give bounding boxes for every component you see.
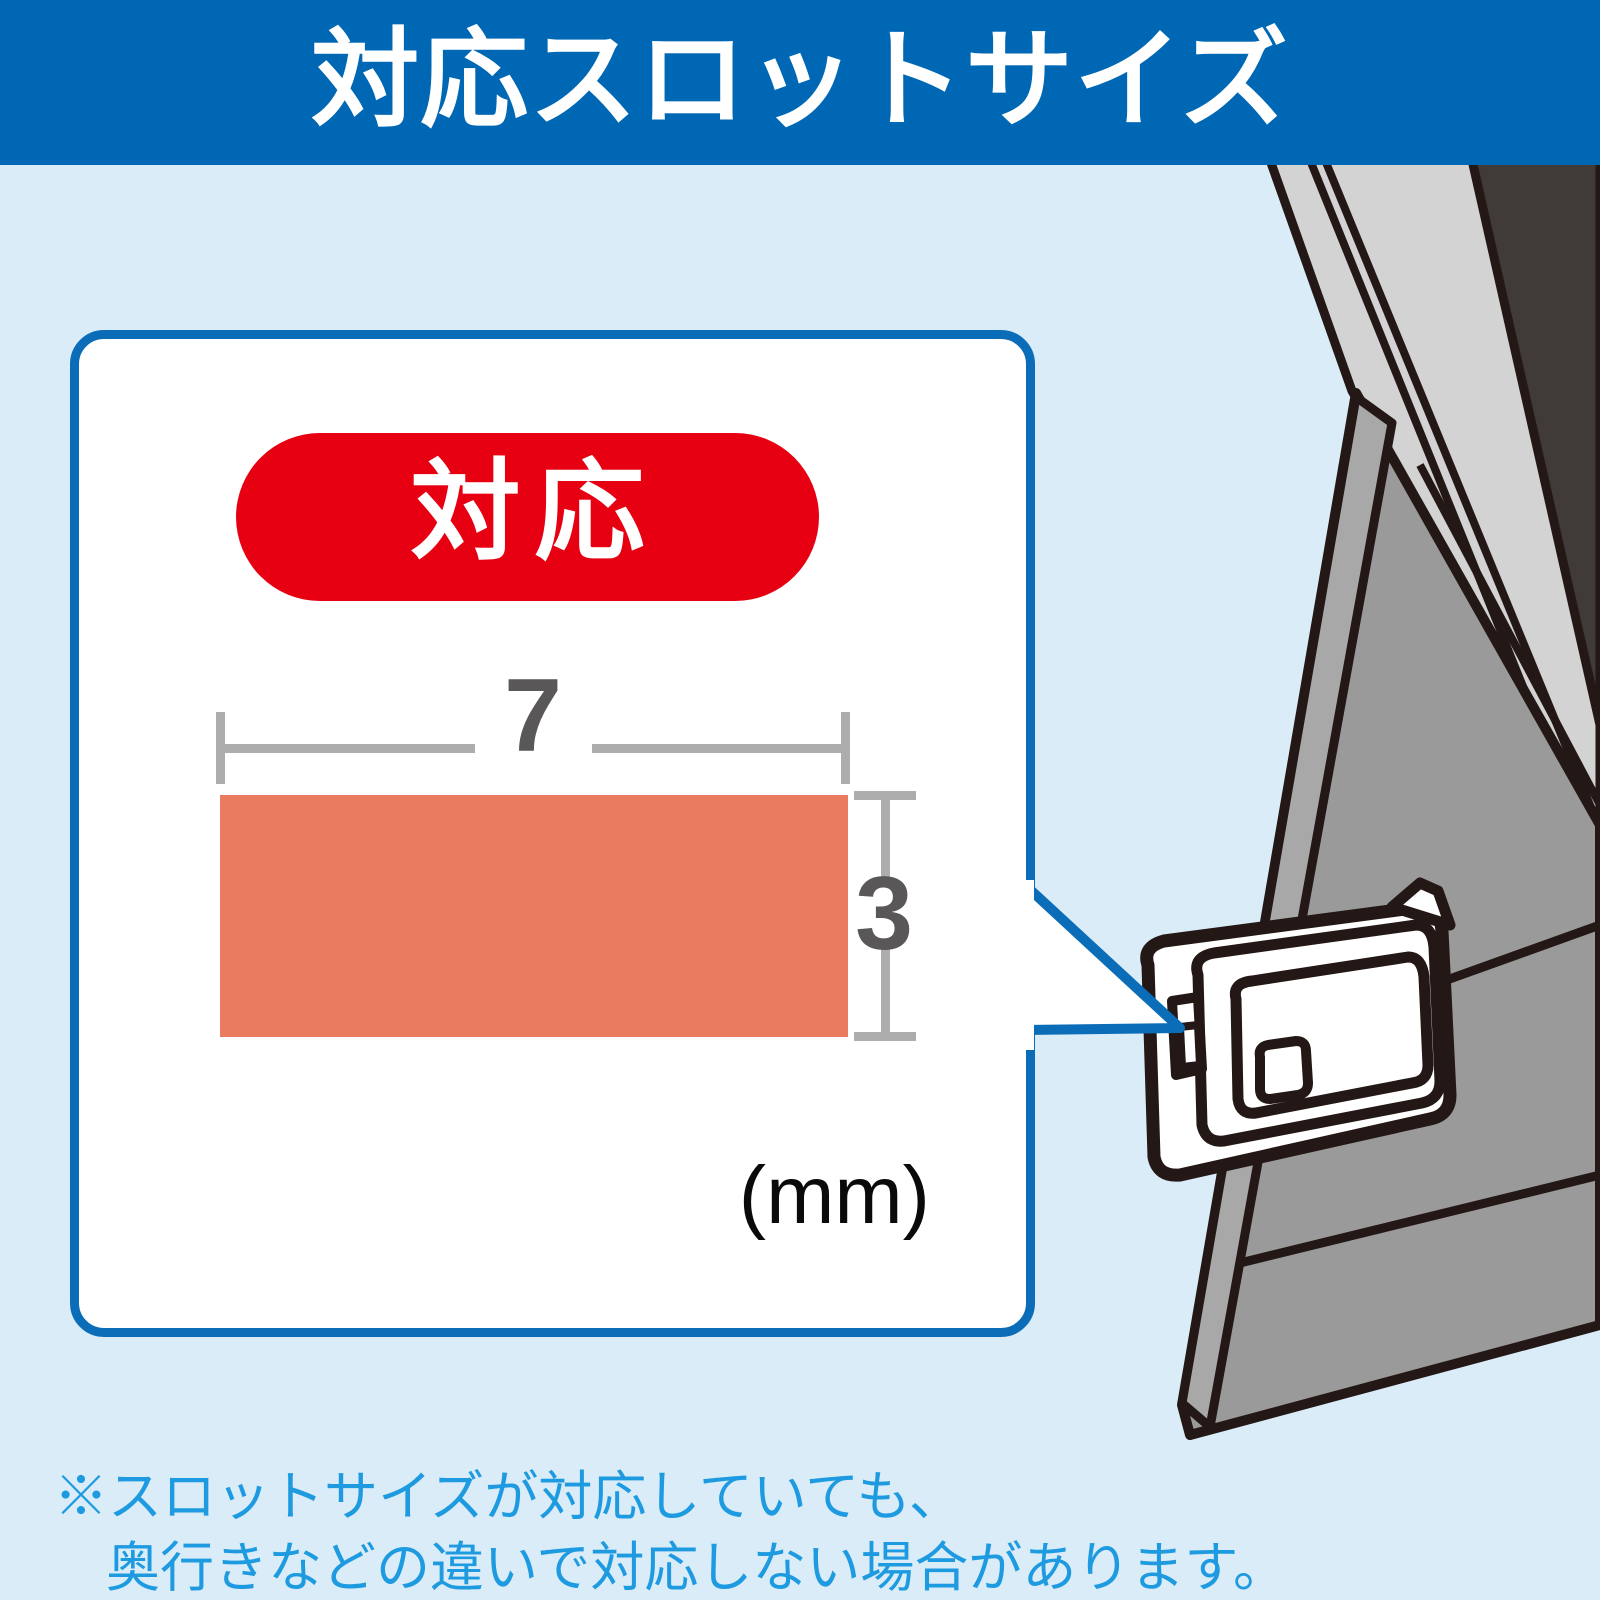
slot-size-rectangle — [220, 795, 848, 1037]
unit-label: (mm) — [600, 1155, 930, 1237]
status-badge: 対応 — [236, 433, 819, 601]
footnote-line-2: 奥行きなどの違いで対応しない場合があります。 — [54, 1533, 1454, 1600]
footnote: ※スロットサイズが対応していても、 奥行きなどの違いで対応しない場合があります。 — [54, 1462, 1454, 1600]
status-badge-label: 対応 — [397, 458, 659, 576]
infographic-canvas: 対応スロットサイズ — [0, 0, 1600, 1600]
page-title: 対応スロットサイズ — [0, 0, 1600, 165]
footnote-line-1: ※スロットサイズが対応していても、 — [54, 1467, 963, 1527]
laptop-with-security-lock-illustration — [1120, 165, 1600, 1440]
width-dimension-value: 7 — [212, 664, 854, 768]
callout-tail — [1020, 880, 1200, 1050]
height-dimension-value: 3 — [846, 862, 922, 966]
